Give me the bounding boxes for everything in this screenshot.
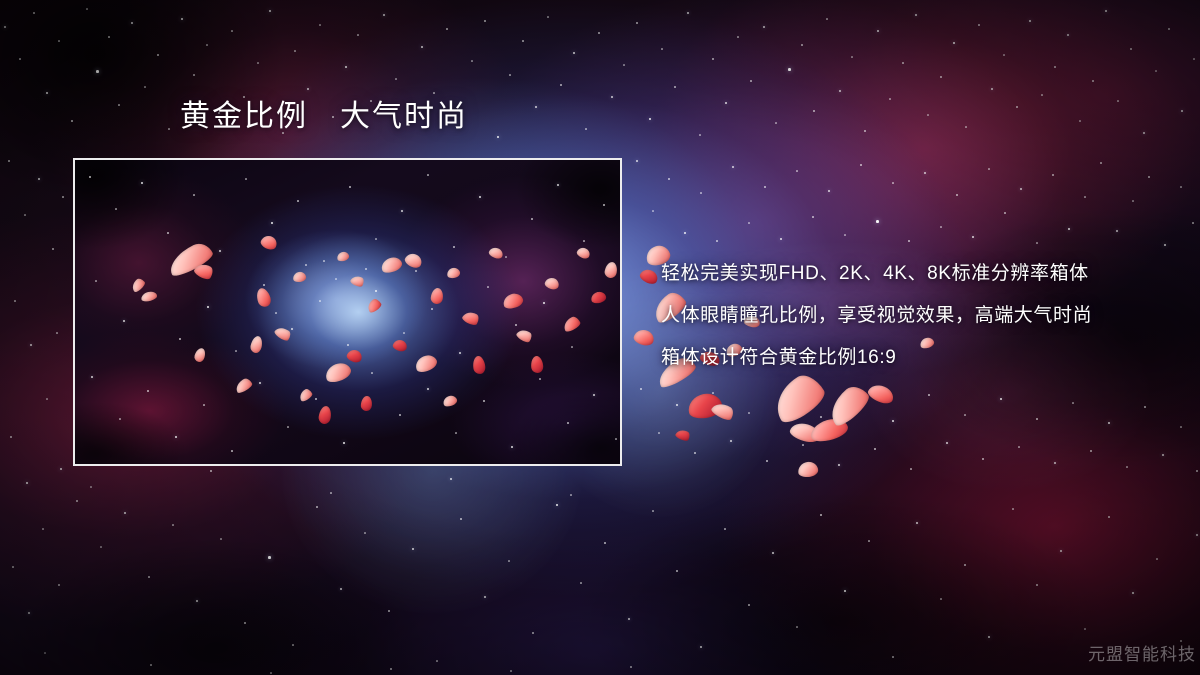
featured-image-frame[interactable] bbox=[73, 158, 622, 466]
description-line-3: 箱体设计符合黄金比例16:9 bbox=[661, 337, 1092, 379]
description-text: 轻松完美实现FHD、2K、4K、8K标准分辨率箱体 人体眼睛瞳孔比例，享受视觉效… bbox=[661, 253, 1092, 379]
description-line-1: 轻松完美实现FHD、2K、4K、8K标准分辨率箱体 bbox=[661, 253, 1092, 295]
panel-dust-layer bbox=[73, 158, 622, 466]
description-line-2: 人体眼睛瞳孔比例，享受视觉效果，高端大气时尚 bbox=[661, 295, 1092, 337]
presentation-slide: 黄金比例 大气时尚 轻松完美实现FHD、2K、4K、8K标准分辨率箱体 人体眼睛… bbox=[0, 0, 1200, 675]
watermark: 元盟智能科技 bbox=[1088, 640, 1196, 665]
page-title: 黄金比例 大气时尚 bbox=[180, 100, 468, 133]
